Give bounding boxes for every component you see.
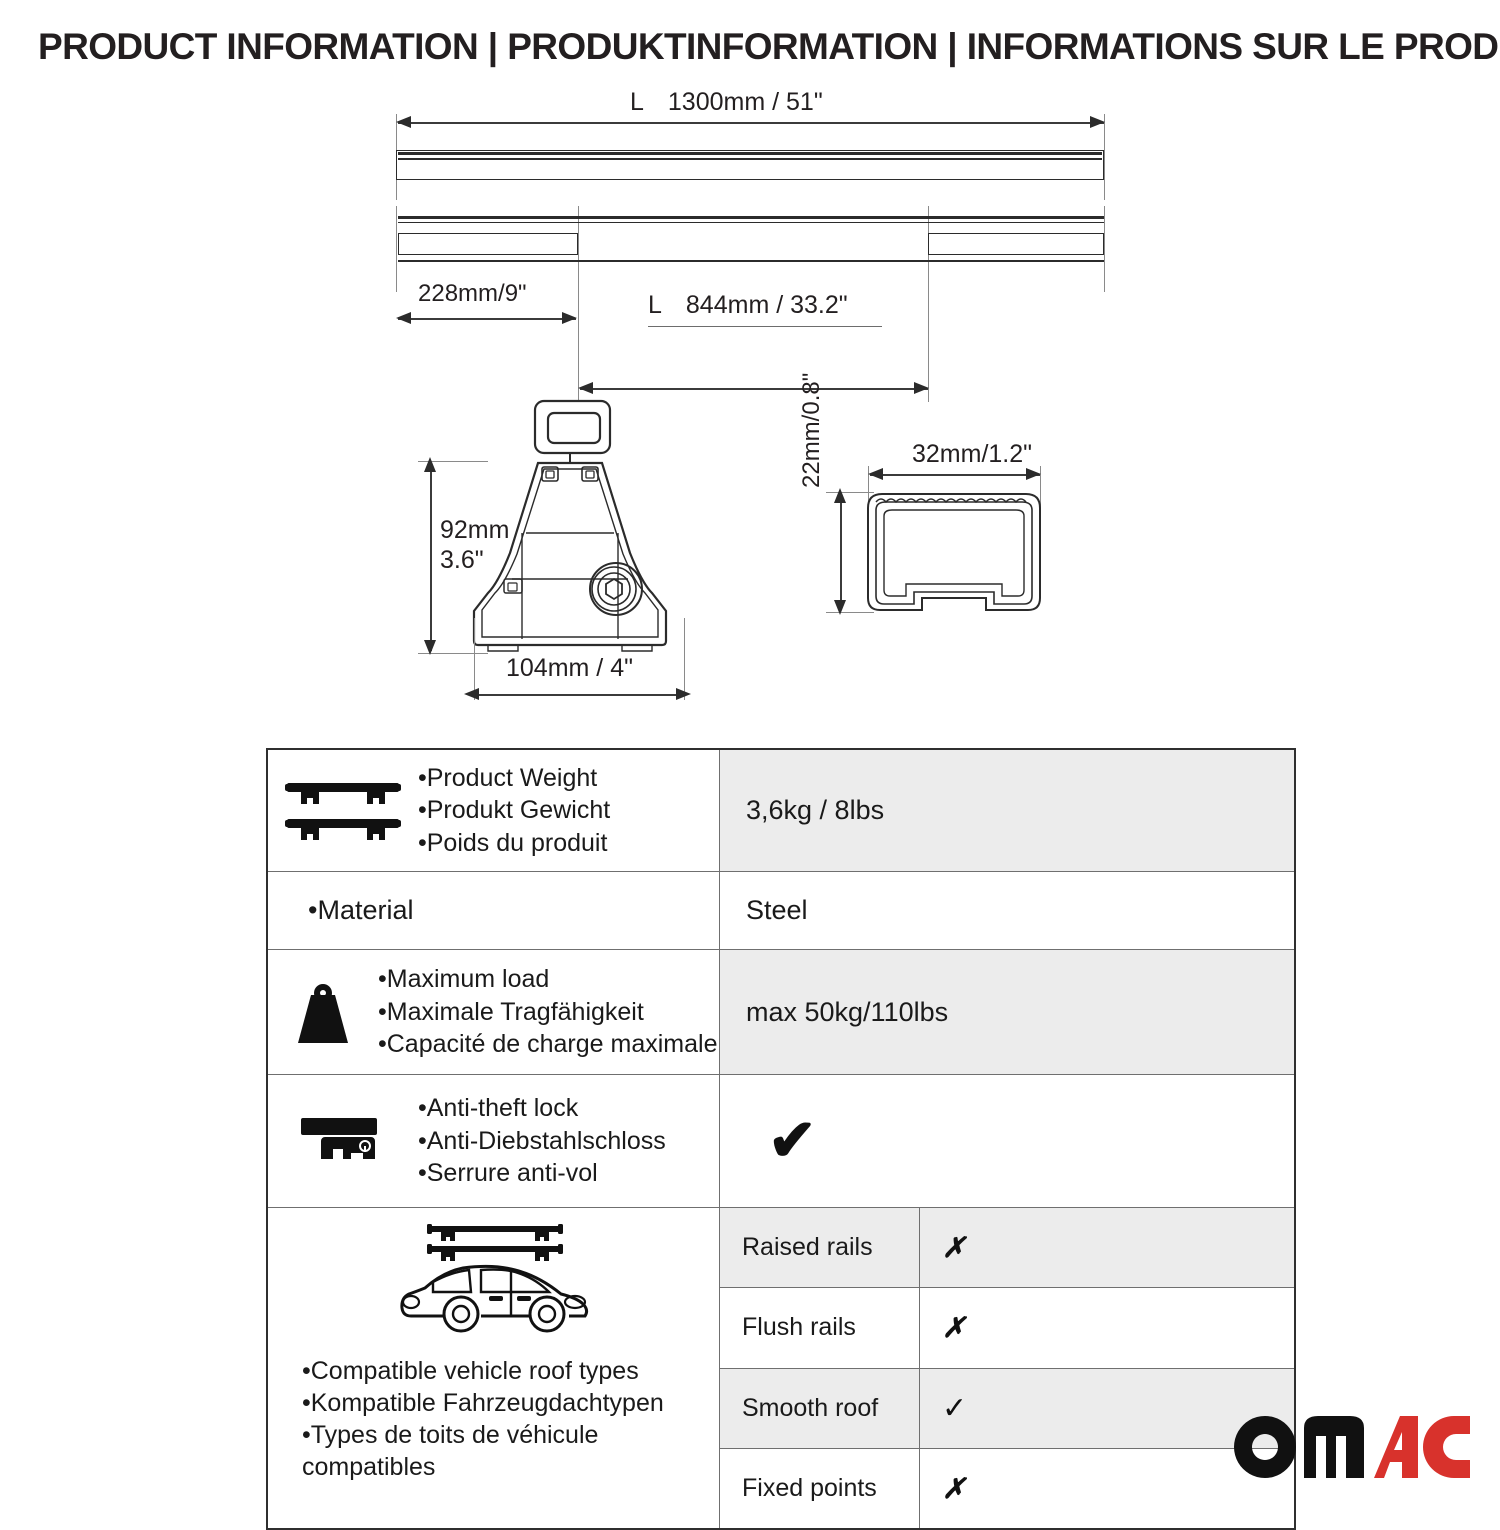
weight-icon	[268, 977, 378, 1047]
label-line: •Maximale Tragfähigkeit	[378, 996, 717, 1029]
table-row-material: •Material Steel	[268, 872, 1294, 950]
row-label-cell: •Material	[268, 872, 720, 949]
label-line: •Anti-Diebstahlschloss	[418, 1125, 666, 1158]
foot-bracket-right	[928, 233, 1104, 255]
table-row-product-weight: •Product Weight •Produkt Gewicht •Poids …	[268, 750, 1294, 872]
technical-drawing: L1300mm / 51" 228mm/9" L844mm / 33.2"	[0, 88, 1500, 728]
bar-top-ridge2	[398, 158, 1102, 160]
dim-span-prefix: L	[648, 291, 662, 319]
dim-profile-height: 22mm/0.8"	[798, 338, 826, 488]
omac-logo	[1232, 1412, 1472, 1482]
subrow-mark-cross-icon: ✗	[920, 1231, 965, 1264]
dim-foot-height-mm: 92mm	[440, 516, 509, 545]
dim-foot-offset: 228mm/9"	[418, 280, 527, 308]
dim-foot-height-in: 3.6"	[440, 546, 484, 575]
arrow-right-offset	[562, 312, 577, 324]
subrow-name: Flush rails	[720, 1288, 920, 1367]
lock-icon	[268, 1108, 418, 1174]
material-labels: •Material	[308, 893, 413, 928]
page-title: PRODUCT INFORMATION | PRODUKTINFORMATION…	[38, 26, 1500, 68]
row-label-cell: •Product Weight •Produkt Gewicht •Poids …	[268, 750, 720, 871]
arrow-right-span	[914, 382, 929, 394]
arrow-down-profile-height	[834, 600, 846, 615]
maximum-load-value: max 50kg/110lbs	[720, 950, 1294, 1074]
dim-profile-width: 32mm/1.2"	[912, 440, 1032, 469]
label-line: •Capacité de charge maximale	[378, 1028, 717, 1061]
side-rail-top	[398, 216, 1104, 219]
row-label-cell: •Anti-theft lock •Anti-Diebstahlschloss …	[268, 1075, 720, 1207]
ext-line-foot-inner	[578, 206, 579, 402]
dim-foot-width: 104mm / 4"	[506, 654, 633, 683]
arrow-left-profile-width	[868, 468, 883, 480]
compat-label-cell: •Compatible vehicle roof types •Kompatib…	[268, 1208, 720, 1528]
arrow-left-foot-width	[464, 688, 479, 700]
dim-span: L844mm / 33.2"	[648, 291, 848, 320]
subrow-fixed-points: Fixed points ✗	[720, 1449, 1294, 1528]
omac-logo-mark	[1232, 1414, 1472, 1480]
dim-span-underline	[648, 326, 882, 327]
label-line: •Product Weight	[418, 762, 610, 795]
subrow-flush-rails: Flush rails ✗	[720, 1288, 1294, 1368]
dim-line-offset	[398, 318, 576, 320]
anti-theft-value: ✔	[720, 1075, 1294, 1207]
subrow-name: Smooth roof	[720, 1369, 920, 1448]
dim-overall-length: L1300mm / 51"	[630, 88, 823, 117]
arrow-up-profile-height	[834, 488, 846, 503]
bar-top-ridge	[398, 152, 1102, 155]
dim-overall-prefix: L	[630, 88, 644, 116]
row-label-cell: •Maximum load •Maximale Tragfähigkeit •C…	[268, 950, 720, 1074]
dim-line-profile-width	[870, 474, 1040, 476]
subrow-name: Fixed points	[720, 1449, 920, 1528]
arrow-right-foot-width	[676, 688, 691, 700]
label-line: •Material	[308, 893, 413, 928]
material-value: Steel	[720, 872, 1294, 949]
label-line: •Poids du produit	[418, 827, 610, 860]
dim-line-foot-width	[476, 694, 684, 696]
label-line: •Anti-theft lock	[418, 1092, 666, 1125]
label-line: •Serrure anti-vol	[418, 1157, 666, 1190]
dim-line-span	[580, 388, 928, 390]
dim-overall-value: 1300mm / 51"	[668, 88, 823, 116]
arrow-left-overall	[396, 116, 411, 128]
subrow-mark-check-icon: ✓	[920, 1391, 967, 1426]
dim-line-overall	[398, 122, 1104, 124]
side-rail-bottom	[398, 260, 1104, 262]
foot-bracket-left	[398, 233, 578, 255]
subrow-name: Raised rails	[720, 1208, 920, 1287]
label-line: •Produkt Gewicht	[418, 794, 610, 827]
subrow-mark-cross-icon: ✗	[920, 1311, 965, 1344]
compat-labels: •Compatible vehicle roof types •Kompatib…	[268, 1355, 664, 1483]
side-rail-top2	[398, 222, 1104, 223]
label-line: •Compatible vehicle roof types	[302, 1355, 664, 1387]
label-line: •Types de toits de véhicule	[302, 1419, 664, 1451]
table-row-anti-theft-lock: •Anti-theft lock •Anti-Diebstahlschloss …	[268, 1075, 1294, 1208]
table-row-compatible-roof-types: •Compatible vehicle roof types •Kompatib…	[268, 1208, 1294, 1528]
table-row-maximum-load: •Maximum load •Maximale Tragfähigkeit •C…	[268, 950, 1294, 1075]
profile-cross-section-drawing	[862, 486, 1052, 622]
crossbars-icon	[268, 775, 418, 847]
specification-table: •Product Weight •Produkt Gewicht •Poids …	[266, 748, 1296, 1530]
arrow-right-profile-width	[1026, 468, 1041, 480]
arrow-left-offset	[396, 312, 411, 324]
product-weight-labels: •Product Weight •Produkt Gewicht •Poids …	[418, 762, 610, 860]
arrow-up-foot-height	[424, 457, 436, 472]
car-with-rack-icon	[389, 1218, 599, 1349]
subrow-smooth-roof: Smooth roof ✓	[720, 1369, 1294, 1449]
product-weight-value: 3,6kg / 8lbs	[720, 750, 1294, 871]
dim-span-value: 844mm / 33.2"	[686, 291, 848, 319]
maximum-load-labels: •Maximum load •Maximale Tragfähigkeit •C…	[378, 963, 717, 1061]
ext-line-side-left	[396, 206, 397, 292]
roof-type-subtable: Raised rails ✗ Flush rails ✗ Smooth roof…	[720, 1208, 1294, 1528]
product-information-page: PRODUCT INFORMATION | PRODUKTINFORMATION…	[0, 0, 1500, 1500]
label-line: •Kompatible Fahrzeugdachtypen	[302, 1387, 664, 1419]
anti-theft-labels: •Anti-theft lock •Anti-Diebstahlschloss …	[418, 1092, 666, 1190]
ext-line-side-right	[1104, 206, 1105, 292]
dim-line-profile-height	[840, 494, 842, 610]
dim-line-foot-height	[430, 463, 432, 651]
subrow-raised-rails: Raised rails ✗	[720, 1208, 1294, 1288]
label-line: •Maximum load	[378, 963, 717, 996]
check-mark-icon: ✔	[746, 1112, 817, 1170]
arrow-right-overall	[1090, 116, 1105, 128]
label-line: compatibles	[302, 1451, 664, 1483]
arrow-down-foot-height	[424, 640, 436, 655]
